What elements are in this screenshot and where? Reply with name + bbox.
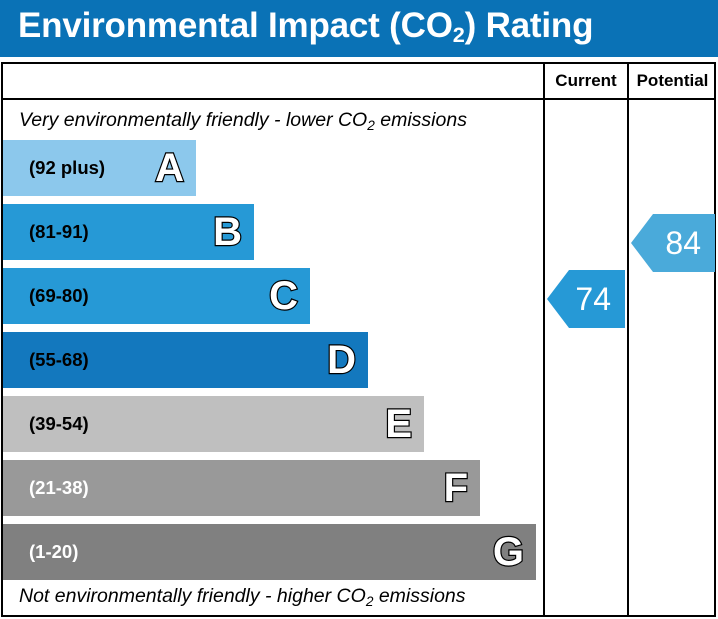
band-list: (92 plus) A (81-91) B (69-80) C (55-68) … [3,64,543,615]
column-header-current: Current [545,64,627,98]
band-letter-b: B [213,212,242,252]
band-letter-c: C [269,276,298,316]
current-rating-value: 74 [575,283,611,315]
band-letter-a: A [155,148,184,188]
column-header-potential: Potential [629,64,716,98]
band-row-e: (39-54) E [3,396,424,452]
band-letter-f: F [444,468,468,508]
band-letter-e: E [385,404,412,444]
caption-bottom-suffix: emissions [373,585,465,607]
chart-title-bar: Environmental Impact (CO2) Rating [0,0,718,57]
caption-bottom-prefix: Not environmentally friendly - higher CO [19,585,366,607]
band-range-d: (55-68) [29,349,89,371]
epc-environmental-impact-chart: Environmental Impact (CO2) Rating Curren… [0,0,718,619]
band-range-a: (92 plus) [29,157,105,179]
potential-column-divider [627,64,629,615]
band-letter-g: G [493,532,524,572]
page-title: Environmental Impact (CO2) Rating [18,6,593,46]
potential-rating-arrow: 84 [631,214,715,272]
band-range-c: (69-80) [29,285,89,307]
band-range-b: (81-91) [29,221,89,243]
page-title-subscript: 2 [453,22,465,47]
band-row-b: (81-91) B [3,204,254,260]
band-range-f: (21-38) [29,477,89,499]
current-column-divider [543,64,545,615]
band-row-d: (55-68) D [3,332,368,388]
band-range-g: (1-20) [29,541,78,563]
page-title-suffix: ) Rating [465,6,594,45]
current-rating-arrow: 74 [547,270,625,328]
potential-rating-value: 84 [665,227,701,259]
band-row-g: (1-20) G [3,524,536,580]
band-range-e: (39-54) [29,413,89,435]
band-letter-d: D [327,340,356,380]
band-row-a: (92 plus) A [3,140,196,196]
rating-table: Current Potential Very environmentally f… [1,62,716,617]
band-row-f: (21-38) F [3,460,480,516]
caption-bottom-subscript: 2 [366,594,374,609]
band-row-c: (69-80) C [3,268,310,324]
caption-bottom: Not environmentally friendly - higher CO… [19,585,466,608]
page-title-prefix: Environmental Impact (CO [18,6,453,45]
